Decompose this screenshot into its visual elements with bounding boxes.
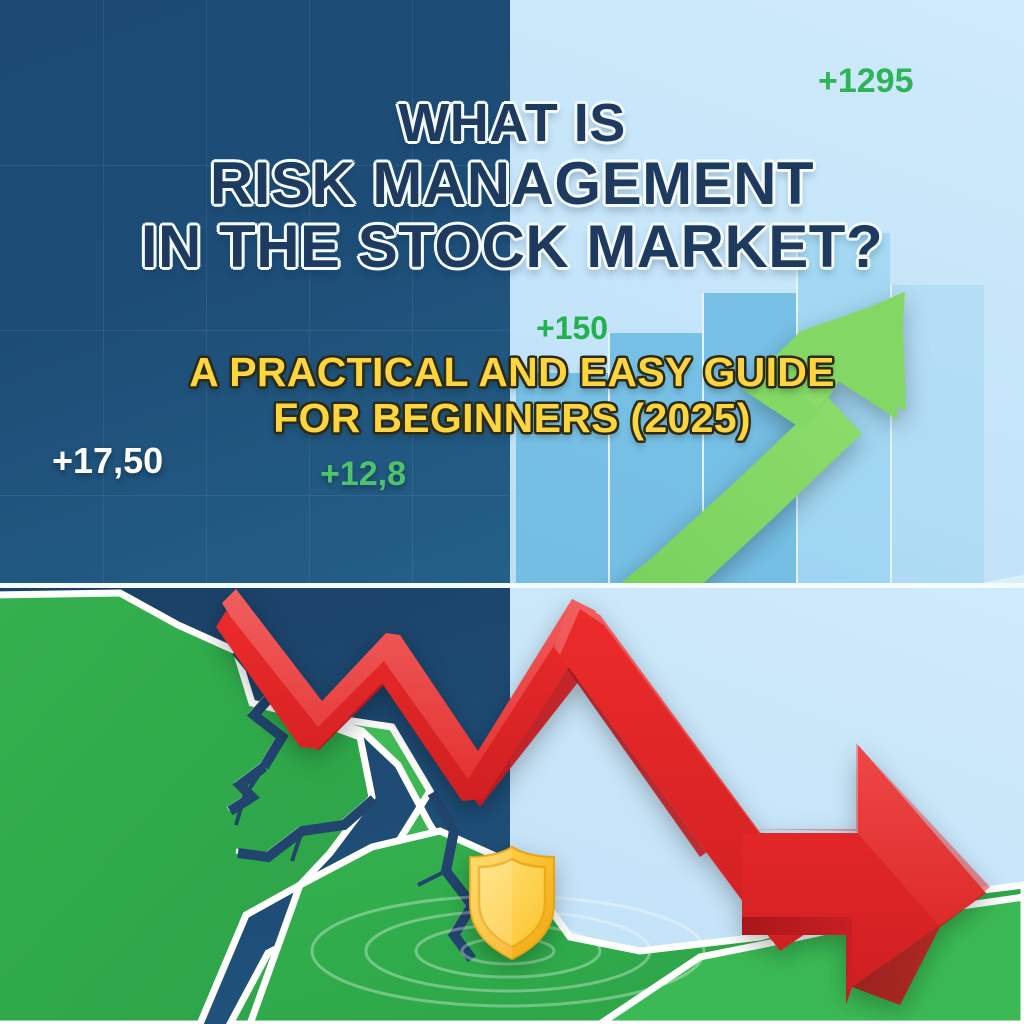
panel-divider <box>0 583 1024 588</box>
title-line-1: WHAT IS <box>0 96 1024 151</box>
bottom-half-panel <box>0 585 1024 1024</box>
page-subtitle: A PRACTICAL AND EASY GUIDE FOR BEGINNERS… <box>0 350 1024 442</box>
data-label-gain-128: +12,8 <box>320 455 406 494</box>
title-line-2: RISK MANAGEMENT <box>0 153 1024 214</box>
subtitle-line-2: FOR BEGINNERS (2025) <box>0 396 1024 442</box>
page-title: WHAT IS RISK MANAGEMENT IN THE STOCK MAR… <box>0 96 1024 277</box>
data-label-gain-1750: +17,50 <box>52 440 163 482</box>
thumbnail-canvas: WHAT IS RISK MANAGEMENT IN THE STOCK MAR… <box>0 0 1024 1024</box>
subtitle-line-1: A PRACTICAL AND EASY GUIDE <box>0 350 1024 396</box>
shield-icon <box>464 845 560 963</box>
title-line-3: IN THE STOCK MARKET? <box>0 216 1024 277</box>
data-label-gain-150: +150 <box>536 310 608 347</box>
